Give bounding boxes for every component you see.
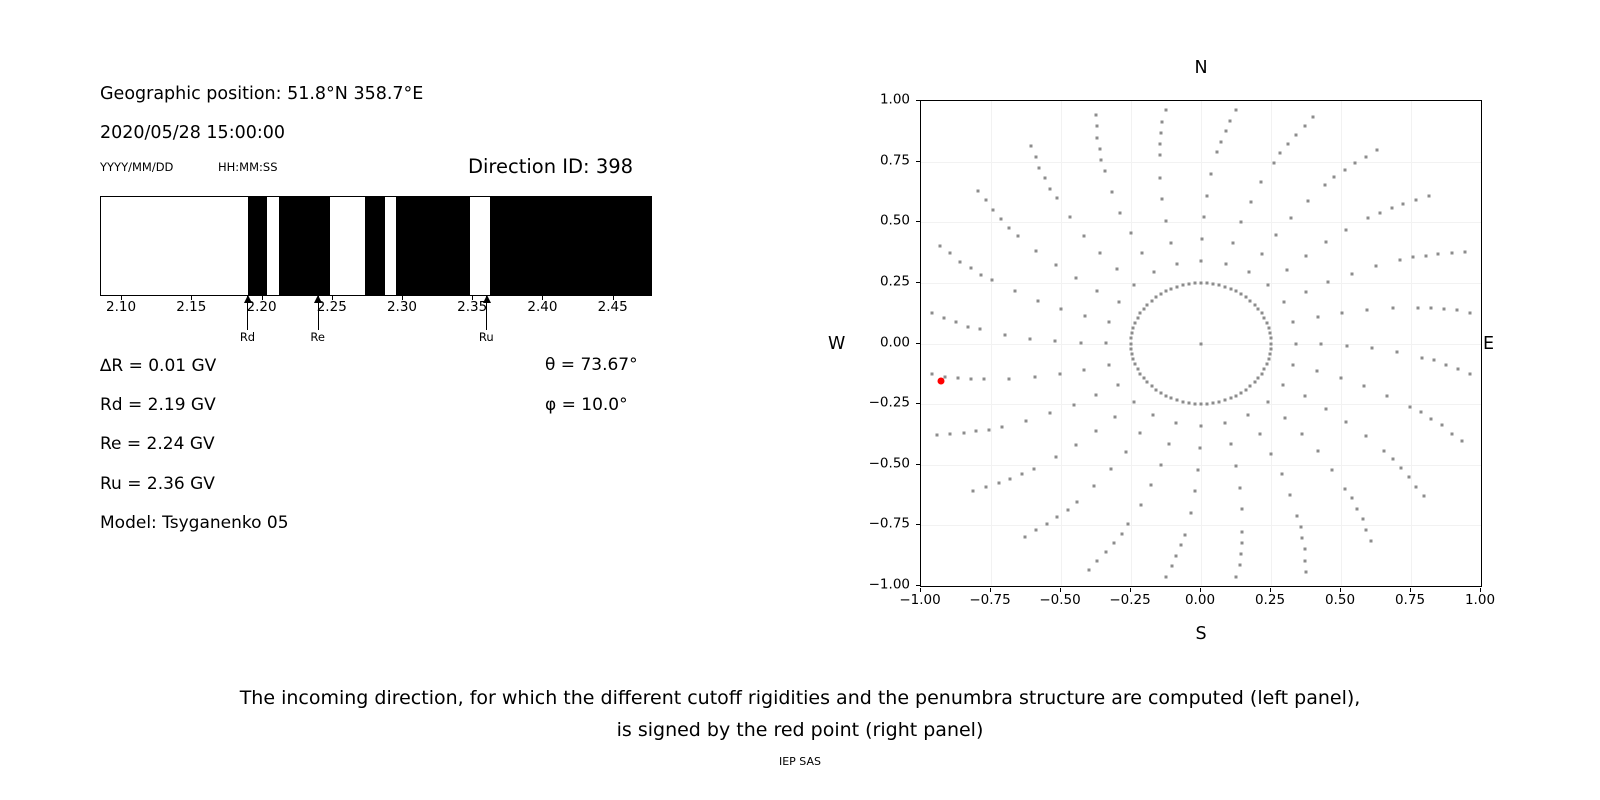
direction-point	[1364, 434, 1367, 437]
direction-point	[1399, 467, 1402, 470]
direction-point	[1240, 508, 1243, 511]
direction-point	[1355, 507, 1358, 510]
direction-point	[1202, 216, 1205, 219]
direction-point	[1268, 331, 1271, 334]
direction-point	[1345, 344, 1348, 347]
direction-point	[1094, 113, 1097, 116]
direction-point	[1160, 131, 1163, 134]
direction-point	[1253, 381, 1256, 384]
direction-point	[1265, 363, 1268, 366]
direction-point	[1134, 321, 1137, 324]
direction-point	[1210, 172, 1213, 175]
direction-point	[1282, 383, 1285, 386]
direction-point	[1240, 392, 1243, 395]
direction-point	[949, 432, 952, 435]
direction-point	[1158, 154, 1161, 157]
direction-point	[1095, 430, 1098, 433]
direction-point	[1232, 242, 1235, 245]
direction-point	[1096, 289, 1099, 292]
direction-point	[1390, 207, 1393, 210]
direction-point	[1103, 169, 1106, 172]
direction-point	[1169, 241, 1172, 244]
polar-axis-label-x: 0.75	[1395, 594, 1425, 608]
direction-point	[1033, 376, 1036, 379]
direction-point	[1206, 282, 1209, 285]
direction-point	[1161, 120, 1164, 123]
direction-point	[1267, 400, 1270, 403]
direction-point	[1087, 568, 1090, 571]
direction-point	[967, 325, 970, 328]
direction-point	[1241, 530, 1244, 533]
polar-axis-label-y: 1.00	[880, 93, 910, 107]
direction-point	[1265, 321, 1268, 324]
direction-point	[1267, 284, 1270, 287]
direction-point	[1199, 424, 1202, 427]
direction-point	[1316, 450, 1319, 453]
gridline-horizontal	[921, 465, 1481, 466]
direction-point	[1129, 232, 1132, 235]
direction-point	[1240, 221, 1243, 224]
direction-point	[1083, 368, 1086, 371]
direction-point	[1260, 372, 1263, 375]
direction-point	[1235, 395, 1238, 398]
direction-point	[1100, 159, 1103, 162]
direction-point	[1136, 368, 1139, 371]
direction-point	[1096, 125, 1099, 128]
direction-point	[1218, 283, 1221, 286]
direction-point	[1370, 347, 1373, 350]
direction-point	[1000, 217, 1003, 220]
direction-point	[1235, 464, 1238, 467]
direction-point	[1189, 512, 1192, 515]
direction-point	[1107, 363, 1110, 366]
direction-point	[1235, 289, 1238, 292]
direction-point	[1049, 412, 1052, 415]
direction-point	[1391, 458, 1394, 461]
direction-point	[1068, 216, 1071, 219]
direction-point	[1267, 358, 1270, 361]
direction-point	[1127, 523, 1130, 526]
direction-point	[1267, 326, 1270, 329]
direction-point	[1017, 234, 1020, 237]
direction-point	[1008, 377, 1011, 380]
direction-point	[1199, 446, 1202, 449]
direction-point	[991, 279, 994, 282]
direction-point	[1035, 250, 1038, 253]
polar-axis-label-y: 0.25	[880, 275, 910, 289]
direction-point	[1289, 493, 1292, 496]
polar-axis-label-x: 0.25	[1255, 594, 1285, 608]
direction-point	[1083, 234, 1086, 237]
direction-point	[1299, 525, 1302, 528]
direction-point	[935, 433, 938, 436]
direction-point	[1096, 559, 1099, 562]
polar-axis-label-x: −0.25	[1109, 594, 1150, 608]
direction-point	[969, 266, 972, 269]
direction-point	[1175, 262, 1178, 265]
direction-point	[1275, 234, 1278, 237]
direction-point	[972, 489, 975, 492]
direction-point	[1391, 307, 1394, 310]
direction-point	[1130, 337, 1133, 340]
direction-point	[1036, 299, 1039, 302]
direction-scatter-plot	[920, 100, 1482, 587]
direction-point	[1303, 125, 1306, 128]
direction-point	[949, 252, 952, 255]
credit-text: IEP SAS	[0, 756, 1600, 767]
direction-point	[1115, 268, 1118, 271]
direction-point	[1104, 342, 1107, 345]
direction-point	[1461, 439, 1464, 442]
direction-point	[1303, 559, 1306, 562]
polar-axis-tick-y	[916, 221, 920, 222]
direction-point	[1244, 388, 1247, 391]
direction-point	[976, 190, 979, 193]
direction-point	[1402, 202, 1405, 205]
direction-point	[1386, 394, 1389, 397]
direction-point	[1132, 284, 1135, 287]
direction-point	[1343, 169, 1346, 172]
direction-point	[1134, 363, 1137, 366]
direction-point	[1054, 340, 1057, 343]
direction-point	[1054, 264, 1057, 267]
direction-point	[1206, 402, 1209, 405]
polar-axis-tick-y	[916, 161, 920, 162]
polar-axis-label-y: −0.50	[869, 457, 910, 471]
direction-point	[1324, 184, 1327, 187]
direction-point	[1240, 292, 1243, 295]
direction-point	[1408, 475, 1411, 478]
direction-point	[1164, 220, 1167, 223]
direction-point	[1004, 333, 1007, 336]
direction-point	[1270, 452, 1273, 455]
direction-point	[1187, 402, 1190, 405]
direction-point	[1218, 401, 1221, 404]
direction-point	[1457, 367, 1460, 370]
direction-point	[1269, 337, 1272, 340]
direction-point	[1164, 109, 1167, 112]
direction-point	[1284, 416, 1287, 419]
direction-point	[1130, 342, 1133, 345]
direction-point	[1430, 306, 1433, 309]
direction-point	[982, 378, 985, 381]
polar-axis-label-y: 0.00	[880, 336, 910, 350]
direction-point	[956, 376, 959, 379]
direction-point	[1008, 226, 1011, 229]
direction-point	[1197, 468, 1200, 471]
polar-axis-label-x: −0.50	[1039, 594, 1080, 608]
direction-point	[1167, 442, 1170, 445]
direction-point	[1159, 463, 1162, 466]
direction-point	[1345, 420, 1348, 423]
direction-point	[1333, 176, 1336, 179]
direction-point	[1181, 401, 1184, 404]
direction-point	[1117, 301, 1120, 304]
direction-point	[1312, 116, 1315, 119]
direction-point	[1423, 494, 1426, 497]
direction-point	[1130, 347, 1133, 350]
direction-point	[1181, 283, 1184, 286]
direction-point	[1399, 259, 1402, 262]
direction-point	[1382, 450, 1385, 453]
direction-point	[1054, 456, 1057, 459]
direction-point	[1378, 211, 1381, 214]
direction-point	[1072, 403, 1075, 406]
direction-point	[1034, 529, 1037, 532]
direction-point	[1339, 377, 1342, 380]
polar-axis-label-x: −0.75	[969, 594, 1010, 608]
direction-point	[1200, 281, 1203, 284]
direction-point	[1200, 342, 1203, 345]
direction-point	[1361, 517, 1364, 520]
gridline-horizontal	[921, 525, 1481, 526]
direction-point	[1000, 425, 1003, 428]
polar-axis-label-y: 0.75	[880, 154, 910, 168]
direction-point	[943, 375, 946, 378]
direction-point	[1132, 326, 1135, 329]
direction-point	[975, 430, 978, 433]
direction-point	[1158, 143, 1161, 146]
direction-point	[1066, 508, 1069, 511]
polar-axis-label-x: 0.00	[1185, 594, 1215, 608]
direction-point	[1175, 554, 1178, 557]
direction-map-panel: N S W E −1.00−0.75−0.50−0.250.000.250.50…	[0, 0, 1600, 660]
direction-point	[1303, 548, 1306, 551]
direction-point	[1224, 262, 1227, 265]
direction-point	[1350, 497, 1353, 500]
direction-point	[1445, 363, 1448, 366]
direction-point	[1132, 358, 1135, 361]
direction-point	[1030, 145, 1033, 148]
polar-axis-tick-y	[916, 524, 920, 525]
direction-point	[984, 199, 987, 202]
direction-point	[1013, 290, 1016, 293]
direction-point	[1224, 422, 1227, 425]
direction-point	[1238, 486, 1241, 489]
direction-point	[1296, 515, 1299, 518]
direction-point	[1200, 238, 1203, 241]
polar-axis-label-x: 1.00	[1465, 594, 1495, 608]
direction-point	[1029, 337, 1032, 340]
compass-label-east: E	[1483, 336, 1494, 354]
direction-point	[1009, 477, 1012, 480]
direction-point	[1175, 422, 1178, 425]
direction-point	[1164, 575, 1167, 578]
direction-point	[1430, 418, 1433, 421]
direction-point	[1341, 312, 1344, 315]
direction-point	[1165, 395, 1168, 398]
direction-point	[1105, 551, 1108, 554]
direction-point	[1260, 312, 1263, 315]
direction-point	[1193, 282, 1196, 285]
direction-point	[1247, 413, 1250, 416]
direction-point	[1170, 287, 1173, 290]
compass-label-south: S	[1195, 626, 1206, 644]
direction-point	[984, 485, 987, 488]
direction-point	[1324, 241, 1327, 244]
direction-point	[1441, 424, 1444, 427]
direction-point	[1320, 343, 1323, 346]
direction-point	[1411, 256, 1414, 259]
direction-point	[942, 317, 945, 320]
direction-point	[1139, 312, 1142, 315]
direction-point	[1075, 500, 1078, 503]
direction-point	[1303, 395, 1306, 398]
direction-point	[1228, 119, 1231, 122]
direction-point	[1023, 535, 1026, 538]
direction-point	[1159, 176, 1162, 179]
direction-point	[1049, 187, 1052, 190]
direction-point	[1152, 413, 1155, 416]
direction-point	[1138, 432, 1141, 435]
direction-point	[1280, 472, 1283, 475]
direction-point	[1183, 533, 1186, 536]
direction-point	[1155, 296, 1158, 299]
compass-label-north: N	[1194, 60, 1207, 78]
direction-point	[1150, 484, 1153, 487]
direction-point	[1249, 200, 1252, 203]
direction-point	[1369, 539, 1372, 542]
gridline-horizontal	[921, 162, 1481, 163]
direction-point	[1437, 252, 1440, 255]
direction-point	[1159, 392, 1162, 395]
direction-point	[1131, 331, 1134, 334]
direction-point	[1301, 537, 1304, 540]
direction-point	[1124, 450, 1127, 453]
direction-point	[1025, 419, 1028, 422]
polar-axis-label-y: −1.00	[869, 578, 910, 592]
direction-point	[979, 328, 982, 331]
direction-point	[1212, 402, 1215, 405]
direction-point	[1075, 277, 1078, 280]
direction-point	[1021, 473, 1024, 476]
direction-point	[1083, 314, 1086, 317]
direction-point	[1306, 200, 1309, 203]
direction-point	[1095, 393, 1098, 396]
direction-point	[1450, 252, 1453, 255]
direction-point	[1263, 316, 1266, 319]
direction-point	[1376, 149, 1379, 152]
direction-point	[997, 482, 1000, 485]
polar-axis-tick-y	[916, 464, 920, 465]
direction-point	[988, 428, 991, 431]
direction-point	[1316, 370, 1319, 373]
figure-caption: The incoming direction, for which the di…	[0, 682, 1600, 746]
direction-point	[1152, 271, 1155, 274]
direction-point	[1235, 109, 1238, 112]
direction-point	[1345, 228, 1348, 231]
direction-point	[1294, 133, 1297, 136]
direction-point	[1241, 541, 1244, 544]
direction-point	[1327, 281, 1330, 284]
direction-point	[1292, 321, 1295, 324]
direction-point	[1205, 194, 1208, 197]
direction-point	[1230, 443, 1233, 446]
direction-point	[1344, 487, 1347, 490]
direction-point	[1200, 403, 1203, 406]
direction-point	[1176, 285, 1179, 288]
polar-axis-label-x: 0.50	[1325, 594, 1355, 608]
polar-axis-tick-y	[916, 585, 920, 586]
direction-point	[1456, 309, 1459, 312]
direction-point	[1253, 303, 1256, 306]
direction-point	[1120, 533, 1123, 536]
direction-point	[1239, 553, 1242, 556]
polar-axis-label-y: 0.50	[880, 215, 910, 229]
polar-axis-tick-y	[916, 403, 920, 404]
direction-point	[1056, 515, 1059, 518]
direction-point	[1272, 161, 1275, 164]
caption-line-1: The incoming direction, for which the di…	[0, 682, 1600, 714]
compass-label-west: W	[828, 336, 845, 354]
direction-point	[1432, 359, 1435, 362]
direction-point	[1282, 301, 1285, 304]
direction-point	[1419, 411, 1422, 414]
polar-axis-label-y: −0.75	[869, 518, 910, 532]
direction-point	[1259, 433, 1262, 436]
direction-point	[1427, 195, 1430, 198]
direction-point	[1291, 364, 1294, 367]
direction-point	[1324, 407, 1327, 410]
direction-point	[1331, 468, 1334, 471]
direction-point	[1367, 217, 1370, 220]
direction-point	[1098, 147, 1101, 150]
direction-point	[1219, 140, 1222, 143]
direction-point	[1132, 400, 1135, 403]
direction-point	[1261, 252, 1264, 255]
direction-point	[1224, 130, 1227, 133]
direction-point	[1270, 342, 1273, 345]
direction-point	[1417, 306, 1420, 309]
direction-point	[1415, 485, 1418, 488]
direction-point	[1316, 316, 1319, 319]
direction-point	[1155, 388, 1158, 391]
direction-point	[1180, 544, 1183, 547]
direction-point	[1350, 272, 1353, 275]
direction-point	[958, 260, 961, 263]
direction-point	[1450, 432, 1453, 435]
selected-direction-point[interactable]	[937, 378, 944, 385]
direction-point	[1146, 303, 1149, 306]
direction-point	[991, 209, 994, 212]
direction-point	[1119, 212, 1122, 215]
caption-line-2: is signed by the red point (right panel)	[0, 714, 1600, 746]
direction-point	[1464, 251, 1467, 254]
direction-point	[1244, 296, 1247, 299]
direction-point	[1263, 368, 1266, 371]
direction-point	[1055, 197, 1058, 200]
direction-point	[1235, 575, 1238, 578]
direction-point	[1193, 402, 1196, 405]
direction-point	[938, 245, 941, 248]
direction-point	[1268, 353, 1271, 356]
direction-point	[1305, 571, 1308, 574]
direction-point	[1469, 311, 1472, 314]
direction-point	[1424, 254, 1427, 257]
direction-point	[1200, 260, 1203, 263]
direction-point	[1301, 433, 1304, 436]
direction-point	[1170, 397, 1173, 400]
direction-point	[1165, 289, 1168, 292]
direction-point	[1150, 299, 1153, 302]
direction-point	[1131, 353, 1134, 356]
direction-point	[1060, 307, 1063, 310]
direction-point	[1034, 155, 1037, 158]
direction-point	[1079, 341, 1082, 344]
direction-point	[1247, 271, 1250, 274]
direction-point	[1229, 287, 1232, 290]
direction-point	[1366, 308, 1369, 311]
